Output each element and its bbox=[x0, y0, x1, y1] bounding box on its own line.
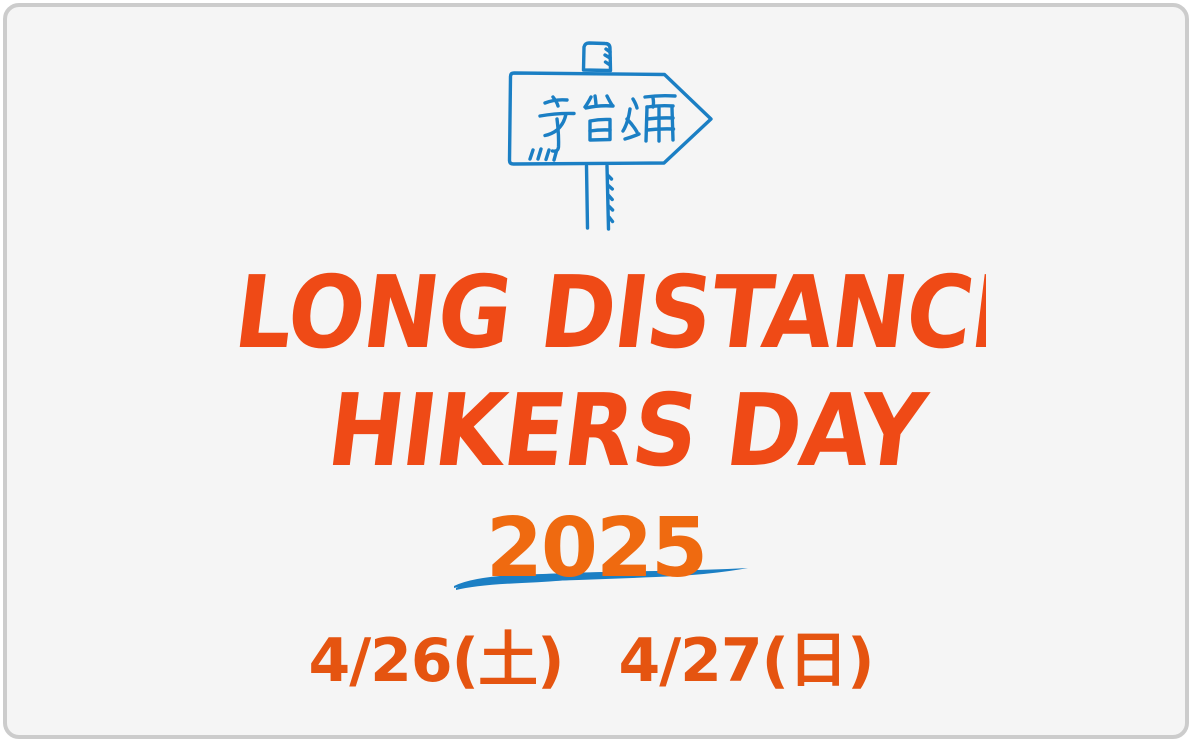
signpost-illustration bbox=[487, 35, 727, 235]
title-line-2: HIKERS DAY bbox=[322, 372, 934, 489]
dates-artwork: 4/26(土) 4/27(日) bbox=[286, 619, 906, 709]
year-artwork: 2025 bbox=[436, 502, 756, 612]
poster-canvas: .brush { font-family: "DejaVu Sans", san… bbox=[7, 7, 1185, 735]
event-title: .brush { font-family: "DejaVu Sans", san… bbox=[7, 247, 1185, 497]
title-artwork: .brush { font-family: "DejaVu Sans", san… bbox=[206, 247, 986, 497]
title-line-1: LONG DISTANCE bbox=[229, 254, 986, 371]
year-block: 2025 bbox=[7, 502, 1185, 612]
poster-frame: .brush { font-family: "DejaVu Sans", san… bbox=[3, 3, 1189, 739]
signpost-icon bbox=[487, 35, 727, 235]
year-text: 2025 bbox=[486, 502, 706, 596]
date-first: 4/26(土) bbox=[308, 626, 563, 696]
date-second: 4/27(日) bbox=[618, 626, 873, 696]
event-dates: 4/26(土) 4/27(日) bbox=[7, 619, 1185, 709]
